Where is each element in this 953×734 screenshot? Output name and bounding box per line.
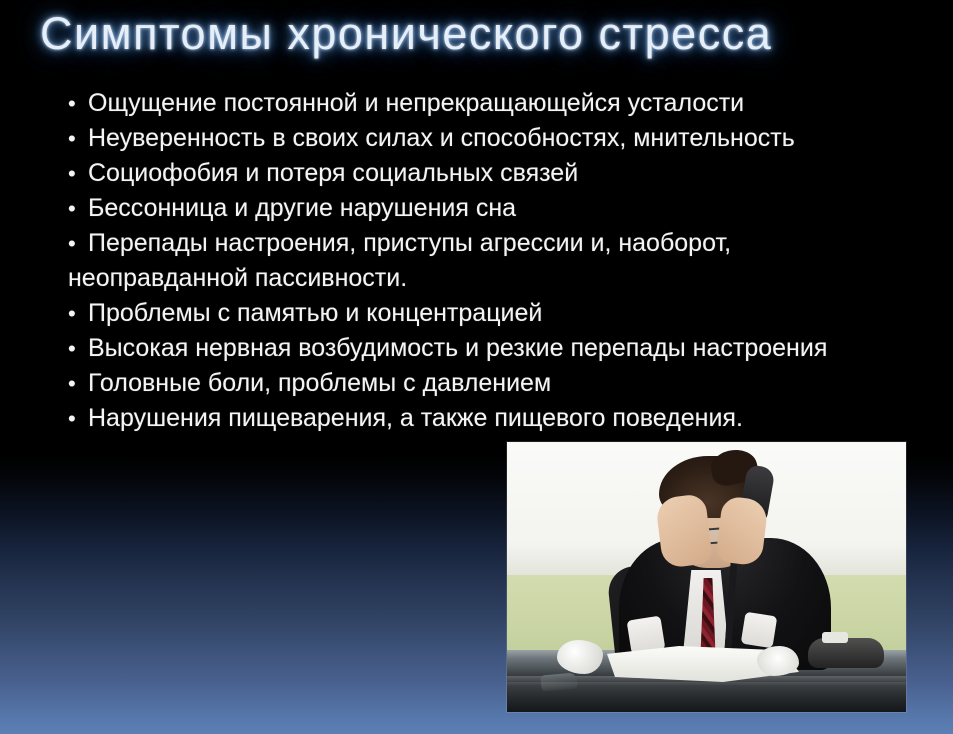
list-item-continuation: неоправданной пассивности.: [62, 261, 942, 296]
left-hand: [655, 493, 713, 569]
list-item: • Ощущение постоянной и непрекращающейся…: [62, 86, 942, 121]
stapler: [540, 672, 577, 691]
crumpled-paper-second: [757, 646, 799, 676]
list-item-text: Перепады настроения, приступы агрессии и…: [88, 229, 731, 257]
list-item-text: Ощущение постоянной и непрекращающейся у…: [88, 89, 744, 117]
list-item-text: Высокая нервная возбудимость и резкие пе…: [88, 334, 827, 362]
list-item: • Высокая нервная возбудимость и резкие …: [62, 331, 942, 366]
list-item: • Нарушения пищеварения, а также пищевог…: [62, 401, 942, 436]
list-item-text: Неуверенность в своих силах и способност…: [88, 124, 795, 152]
crumpled-paper: [557, 640, 603, 674]
list-item: • Неуверенность в своих силах и способно…: [62, 121, 942, 156]
list-item-text: Проблемы с памятью и концентрацией: [88, 299, 542, 327]
bullet-marker-icon: •: [68, 86, 76, 121]
list-item-text: Социофобия и потеря социальных связей: [88, 159, 578, 187]
bullet-marker-icon: •: [68, 191, 76, 226]
list-item-text: Нарушения пищеварения, а также пищевого …: [88, 404, 743, 432]
list-item: • Перепады настроения, приступы агрессии…: [62, 226, 942, 261]
bullet-list: • Ощущение постоянной и непрекращающейся…: [62, 86, 942, 436]
list-item: • Головные боли, проблемы с давлением: [62, 366, 942, 401]
bullet-marker-icon: •: [68, 401, 76, 436]
stressed-businessman-photo: [507, 442, 906, 712]
bullet-marker-icon: •: [68, 156, 76, 191]
bullet-marker-icon: •: [68, 366, 76, 401]
list-item-text: Бессонница и другие нарушения сна: [88, 194, 516, 222]
list-item-text: Головные боли, проблемы с давлением: [88, 369, 551, 397]
list-item: • Бессонница и другие нарушения сна: [62, 191, 942, 226]
bullet-marker-icon: •: [68, 331, 76, 366]
bullet-marker-icon: •: [68, 226, 76, 261]
list-item-text: неоправданной пассивности.: [68, 264, 407, 292]
presentation-slide: Симптомы хронического стресса • Ощущение…: [0, 0, 953, 734]
slide-title: Симптомы хронического стресса: [40, 8, 772, 60]
list-item: • Проблемы с памятью и концентрацией: [62, 296, 942, 331]
desk-phone-base: [808, 638, 884, 668]
list-item: • Социофобия и потеря социальных связей: [62, 156, 942, 191]
bullet-marker-icon: •: [68, 296, 76, 331]
bullet-marker-icon: •: [68, 121, 76, 156]
